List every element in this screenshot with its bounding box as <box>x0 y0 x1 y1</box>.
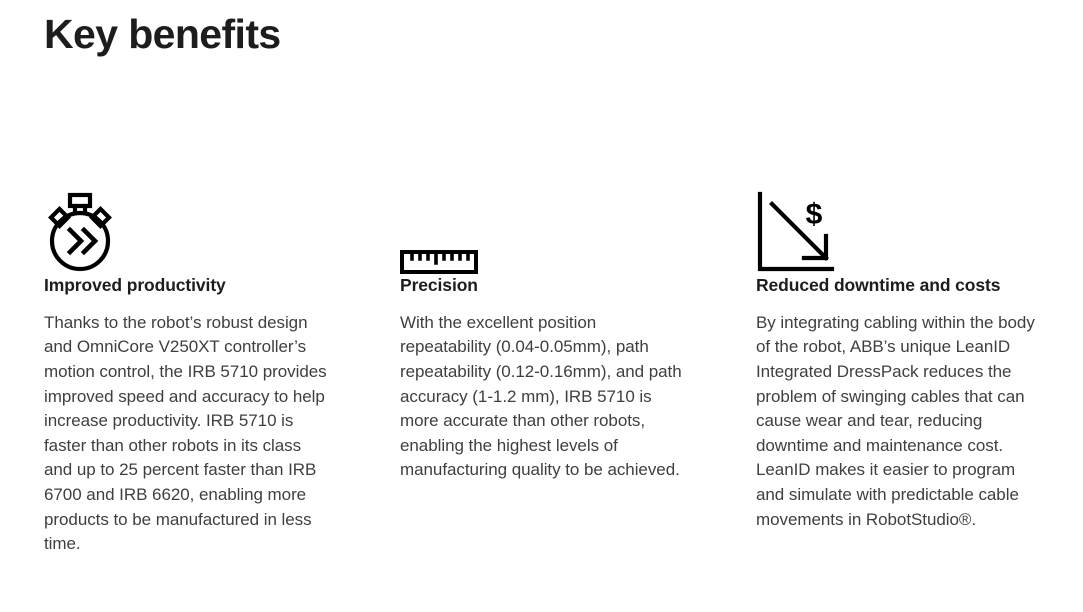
benefit-heading: Reduced downtime and costs <box>756 274 1039 297</box>
benefit-heading: Precision <box>400 274 683 297</box>
benefit-card-precision: Precision With the excellent position re… <box>400 186 683 483</box>
svg-text:$: $ <box>806 198 823 231</box>
benefit-body: Thanks to the robot’s robust design and … <box>44 311 327 557</box>
key-benefits-page: Key benefits Improved prod <box>0 0 1083 612</box>
page-title: Key benefits <box>44 10 281 59</box>
stopwatch-fast-forward-icon <box>44 186 327 274</box>
ruler-icon <box>400 186 683 274</box>
benefit-card-reduced-downtime-and-costs: $ Reduced downtime and costs By integrat… <box>756 186 1039 532</box>
benefit-body: With the excellent position repeatabilit… <box>400 311 683 483</box>
benefits-grid: Improved productivity Thanks to the robo… <box>44 186 1044 557</box>
declining-cost-chart-icon: $ <box>756 186 1039 274</box>
benefit-body: By integrating cabling within the body o… <box>756 311 1039 532</box>
benefit-heading: Improved productivity <box>44 274 327 297</box>
benefit-card-improved-productivity: Improved productivity Thanks to the robo… <box>44 186 327 557</box>
